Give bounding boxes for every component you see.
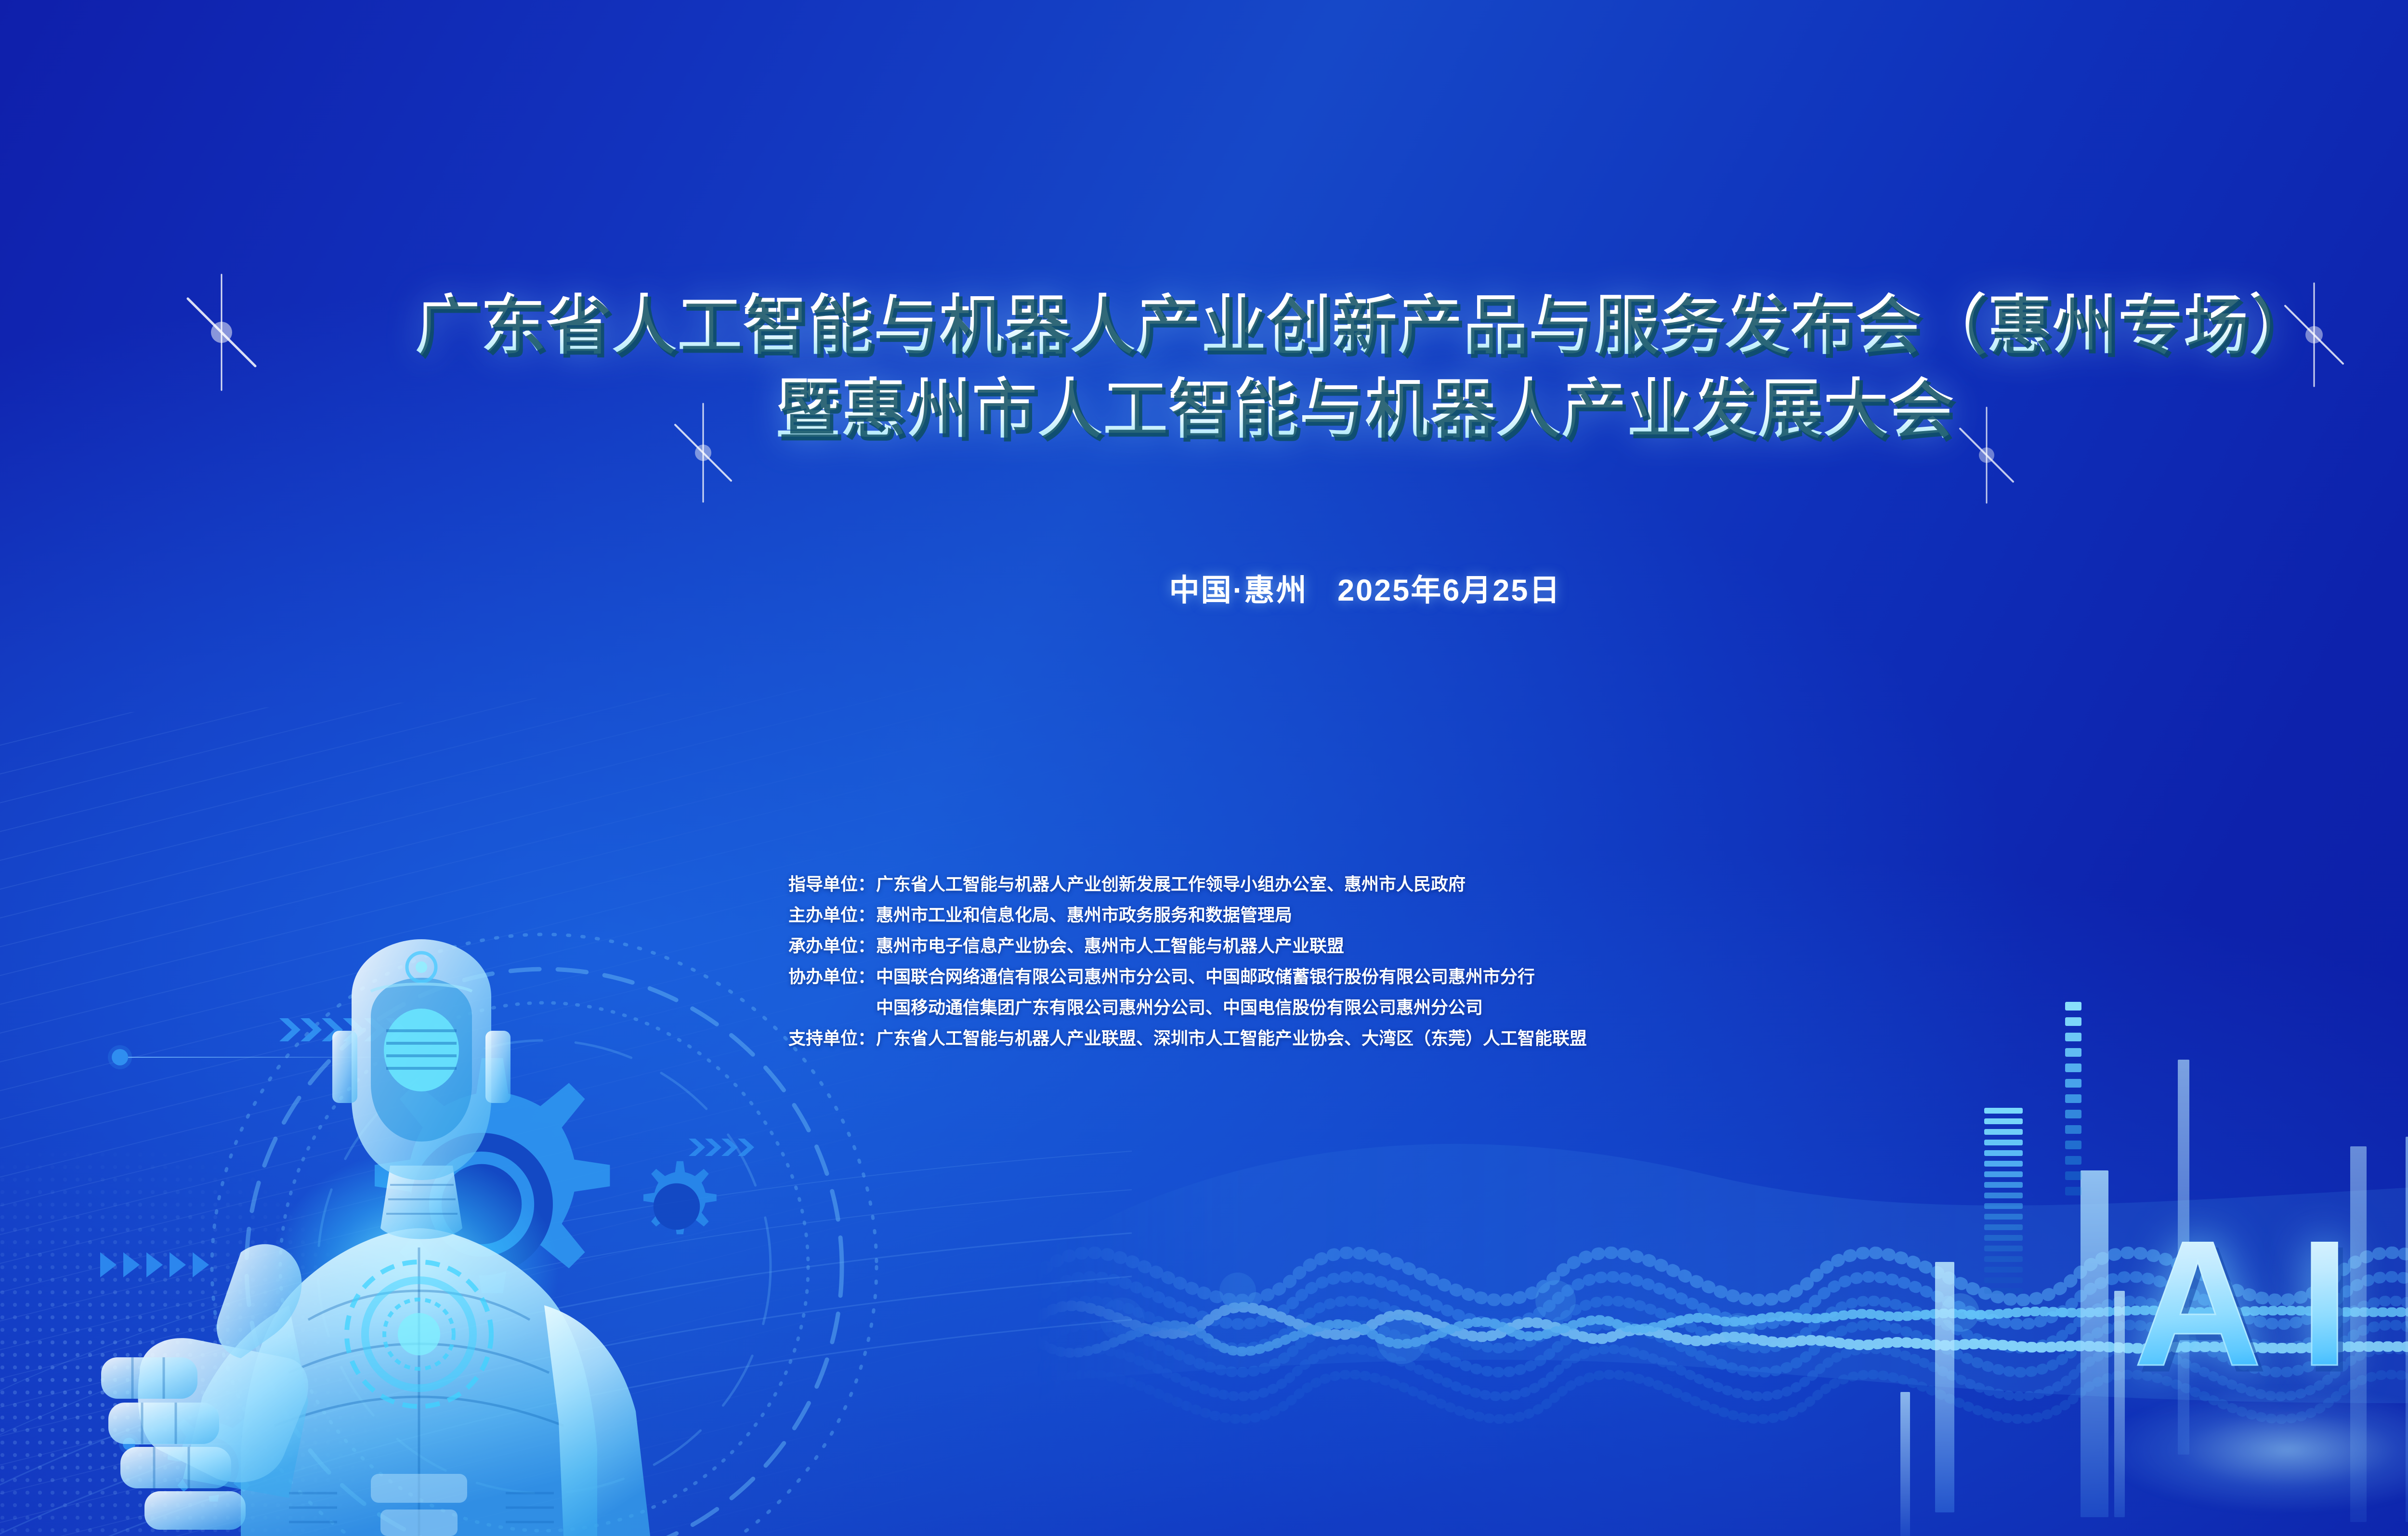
org-value: 惠州市工业和信息化局、惠州市政务服务和数据管理局 xyxy=(876,906,1292,924)
triangle-arrow-icon xyxy=(146,1252,163,1277)
chevron-arrow-row xyxy=(279,1015,433,1044)
list-item: 指导单位： 广东省人工智能与机器人产业创新发展工作领导小组办公室、惠州市人民政府 xyxy=(788,876,1587,893)
poster-title-block: 广东省人工智能与机器人产业创新产品与服务发布会（惠州专场） 暨惠州市人工智能与机… xyxy=(0,284,2408,452)
small-gear-left-icon xyxy=(140,1397,279,1536)
org-value: 惠州市电子信息产业协会、惠州市人工智能与机器人产业联盟 xyxy=(876,937,1344,955)
connector-node-line xyxy=(112,1049,427,1065)
org-value: 广东省人工智能与机器人产业联盟、深圳市人工智能产业协会、大湾区（东莞）人工智能联… xyxy=(876,1030,1587,1047)
chevron-arrow-icon xyxy=(279,1015,433,1044)
org-value: 中国联合网络通信有限公司惠州市分公司、中国邮政储蓄银行股份有限公司惠州市分行 xyxy=(876,968,1535,985)
connector-line xyxy=(128,1057,427,1058)
equalizer-bars xyxy=(1984,1108,2023,1294)
chevron-arrow-icon xyxy=(689,1137,771,1158)
connector-node-bottom xyxy=(123,1438,280,1450)
event-date-block: 中国·惠州 2025年6月25日 xyxy=(0,566,2408,610)
robot-illustration xyxy=(82,939,679,1536)
large-gear-icon xyxy=(303,1026,660,1382)
list-item: 支持单位： 广东省人工智能与机器人产业联盟、深圳市人工智能产业协会、大湾区（东莞… xyxy=(788,1030,1587,1047)
circle-node-icon xyxy=(112,1049,128,1065)
org-label: 承办单位： xyxy=(788,937,876,955)
list-item: 协办单位： 中国联合网络通信有限公司惠州市分公司、中国邮政储蓄银行股份有限公司惠… xyxy=(788,968,1587,985)
org-value: 中国移动通信集团广东有限公司惠州分公司、中国电信股份有限公司惠州分公司 xyxy=(876,999,1483,1016)
background-decor-layer xyxy=(0,0,2408,1536)
glass-column xyxy=(1900,1392,1910,1536)
chevron-arrow-row-right xyxy=(689,1137,771,1158)
diagonal-hairlines xyxy=(0,677,1170,1536)
connector-line xyxy=(135,1444,280,1444)
ai-letter-i: I xyxy=(2300,1231,2349,1377)
organization-list: 指导单位： 广东省人工智能与机器人产业创新发展工作领导小组办公室、惠州市人民政府… xyxy=(788,876,1587,1061)
page-title-line-1: 广东省人工智能与机器人产业创新产品与服务发布会（惠州专场） xyxy=(0,284,2408,368)
org-label: 协办单位： xyxy=(788,968,876,985)
triangle-arrow-icon xyxy=(193,1252,209,1277)
triangle-arrow-icon xyxy=(100,1252,117,1277)
halftone-dot-field xyxy=(0,1036,573,1536)
list-item: 主办单位： 惠州市工业和信息化局、惠州市政务服务和数据管理局 xyxy=(788,906,1587,924)
org-label: 指导单位： xyxy=(788,876,876,893)
event-location-date: 中国·惠州 2025年6月25日 xyxy=(1169,566,1561,610)
org-label: 支持单位： xyxy=(788,1030,876,1047)
poster-canvas: A I 广东省人工智能与机器人产业创新产品与服务发布会（惠州专场） 暨惠州市人工… xyxy=(0,0,2408,1536)
triangle-arrow-icon xyxy=(170,1252,186,1277)
ai-logo: A I xyxy=(2133,1231,2349,1377)
page-title-line-2: 暨惠州市人工智能与机器人产业发展大会 xyxy=(0,368,2408,452)
org-label: 主办单位： xyxy=(788,906,876,924)
small-gear-right-icon xyxy=(621,1151,732,1262)
triangle-arrow-icon xyxy=(123,1252,140,1277)
list-item: 承办单位： 惠州市电子信息产业协会、惠州市人工智能与机器人产业联盟 xyxy=(788,937,1587,955)
ai-letter-a: A xyxy=(2133,1231,2262,1377)
sweeping-arcs xyxy=(0,722,1108,1536)
equalizer-bars xyxy=(2065,1002,2081,1195)
triangle-arrow-row xyxy=(100,1252,216,1277)
glass-column xyxy=(1935,1262,1954,1512)
list-item: 协办单位： 中国移动通信集团广东有限公司惠州分公司、中国电信股份有限公司惠州分公… xyxy=(788,999,1587,1016)
org-value: 广东省人工智能与机器人产业创新发展工作领导小组办公室、惠州市人民政府 xyxy=(876,876,1466,893)
circle-node-icon xyxy=(123,1438,135,1450)
ai-logo-glow xyxy=(2105,1387,2408,1512)
